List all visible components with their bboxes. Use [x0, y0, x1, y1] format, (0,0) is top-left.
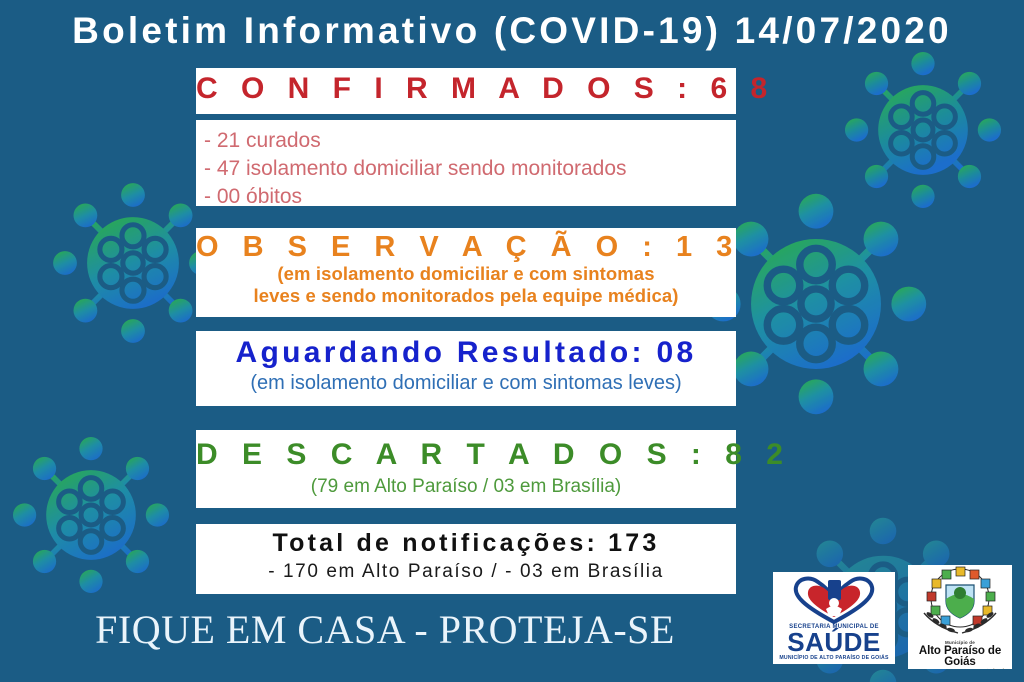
- total-note: - 170 em Alto Paraíso / - 03 em Brasília: [196, 557, 736, 583]
- aguardando-note: (em isolamento domiciliar e com sintomas…: [196, 369, 736, 396]
- slogan-text: FIQUE EM CASA - PROTEJA-SE: [60, 606, 710, 653]
- brasao-main-text: Alto Paraíso de Goiás: [908, 646, 1012, 669]
- logo-brasao-municipio: Município de Alto Paraíso de Goiás a gen…: [908, 565, 1012, 669]
- brasao-sub-text: a gente é mais: [908, 669, 1012, 670]
- panel-observacao: O B S E R V A Ç Ã O : 1 3 (em isolamento…: [196, 228, 736, 317]
- detail-obitos: - 00 óbitos: [204, 183, 736, 211]
- logo-secretaria-saude: SECRETARIA MUNICIPAL DE SAÚDE MUNICÍPIO …: [773, 572, 895, 664]
- confirmados-title: C O N F I R M A D O S : 6 8: [196, 73, 736, 105]
- health-heart-icon: [773, 572, 895, 624]
- panel-total-notificacoes: Total de notificações: 173 - 170 em Alto…: [196, 524, 736, 594]
- panel-descartados: D E S C A R T A D O S : 8 2 (79 em Alto …: [196, 430, 736, 508]
- coat-of-arms-icon: [908, 565, 1012, 641]
- covid-bulletin-poster: Boletim Informativo (COVID-19) 14/07/202…: [0, 0, 1024, 682]
- virus-icon-top-right: [840, 47, 1006, 213]
- descartados-note: (79 em Alto Paraíso / 03 em Brasília): [196, 471, 736, 498]
- detail-curados: - 21 curados: [204, 127, 736, 155]
- page-title: Boletim Informativo (COVID-19) 14/07/202…: [0, 10, 1024, 52]
- observacao-note-line2: leves e sendo monitorados pela equipe mé…: [196, 285, 736, 307]
- detail-isolamento: - 47 isolamento domiciliar sendo monitor…: [204, 155, 736, 183]
- total-title: Total de notificações: 173: [196, 530, 736, 557]
- descartados-title: D E S C A R T A D O S : 8 2: [196, 439, 736, 471]
- panel-confirmados: C O N F I R M A D O S : 6 8: [196, 68, 736, 114]
- panel-confirmados-details: - 21 curados - 47 isolamento domiciliar …: [196, 120, 736, 206]
- saude-main-text: SAÚDE: [773, 629, 895, 655]
- observacao-title: O B S E R V A Ç Ã O : 1 3: [196, 232, 736, 263]
- saude-bottom-text: MUNICÍPIO DE ALTO PARAÍSO DE GOIÁS: [773, 656, 895, 661]
- panel-aguardando-resultado: Aguardando Resultado: 08 (em isolamento …: [196, 331, 736, 406]
- virus-icon-bottom-left: [8, 432, 174, 598]
- aguardando-title: Aguardando Resultado: 08: [196, 337, 736, 369]
- virus-icon-left-middle: [48, 178, 218, 348]
- observacao-note-line1: (em isolamento domiciliar e com sintomas: [196, 263, 736, 285]
